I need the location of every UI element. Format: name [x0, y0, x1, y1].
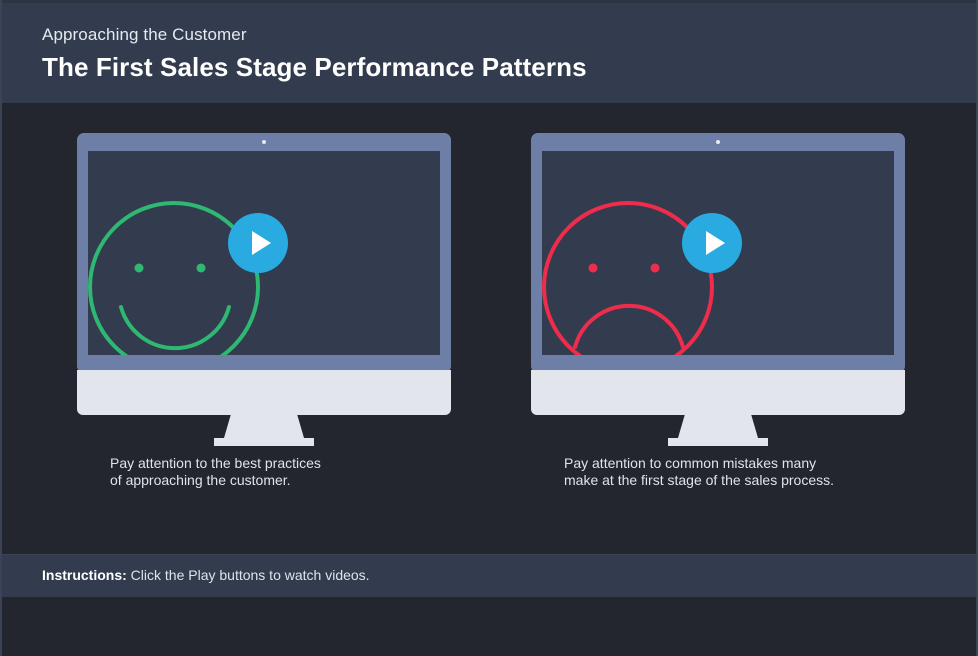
caption-line-2: of approaching the customer.	[110, 472, 484, 489]
instructions-bar: Instructions: Click the Play buttons to …	[2, 554, 978, 598]
monitor-base-left	[77, 370, 451, 415]
play-button-overlay-right[interactable]	[682, 213, 742, 273]
webcam-dot-icon	[262, 140, 266, 144]
monitor-stand-left	[209, 414, 319, 446]
monitor-frame-left	[77, 133, 451, 373]
header-eyebrow: Approaching the Customer	[42, 25, 247, 45]
page-title: The First Sales Stage Performance Patter…	[42, 52, 587, 83]
monitor-base-right	[531, 370, 905, 415]
play-button-overlay-left[interactable]	[228, 213, 288, 273]
bottom-toolbar: 18/57	[2, 597, 978, 656]
video-card-best-practices: Pay attention to the best practices of a…	[44, 103, 484, 554]
webcam-dot-icon	[716, 140, 720, 144]
monitor-screen-left	[88, 151, 440, 355]
caption-line-1: Pay attention to the best practices	[110, 455, 484, 472]
slide-canvas: Approaching the Customer The First Sales…	[0, 0, 978, 656]
card-caption-right: Pay attention to common mistakes many ma…	[498, 455, 938, 489]
monitor-frame-right	[531, 133, 905, 373]
caption-line-1: Pay attention to common mistakes many	[564, 455, 938, 472]
monitor-screen-right	[542, 151, 894, 355]
slide-header: Approaching the Customer The First Sales…	[2, 0, 978, 103]
caption-line-2: make at the first stage of the sales pro…	[564, 472, 938, 489]
instructions-label: Instructions:	[42, 567, 127, 583]
card-caption-left: Pay attention to the best practices of a…	[44, 455, 484, 489]
slide-body: Pay attention to the best practices of a…	[2, 103, 978, 554]
instructions-text: Click the Play buttons to watch videos.	[127, 567, 370, 583]
monitor-stand-right	[663, 414, 773, 446]
instructions-text-wrap: Instructions: Click the Play buttons to …	[42, 567, 370, 583]
video-card-common-mistakes: Pay attention to common mistakes many ma…	[498, 103, 938, 554]
